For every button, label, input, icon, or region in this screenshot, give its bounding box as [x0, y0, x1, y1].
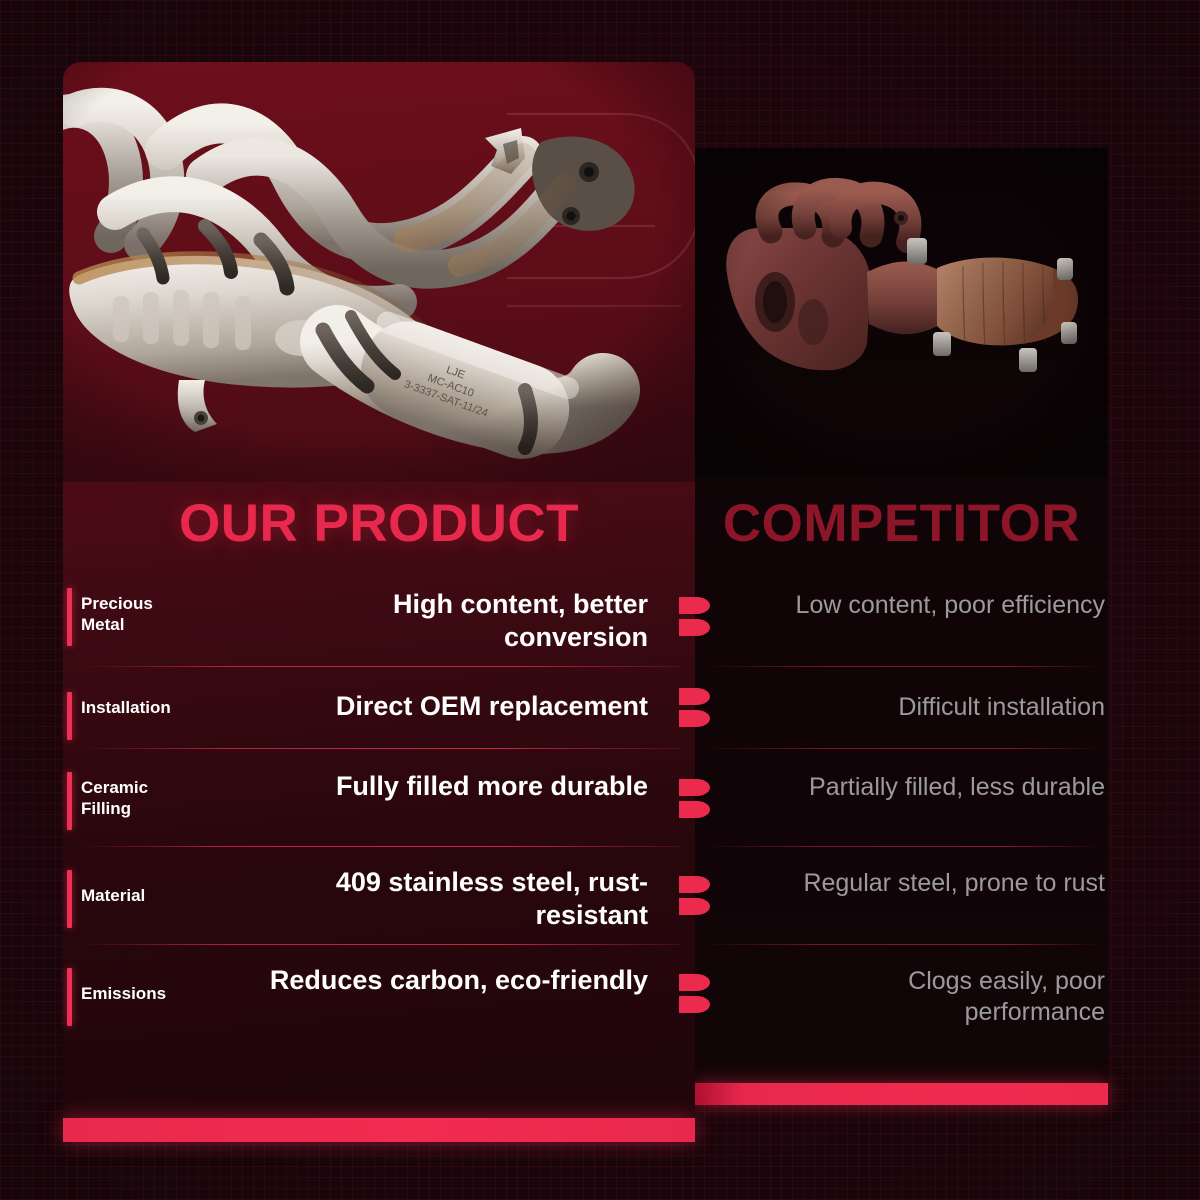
marker-top-half	[679, 876, 710, 893]
comparison-row: Emissions Reduces carbon, eco-friendly C…	[0, 950, 1200, 1043]
competitor-value: Low content, poor efficiency	[775, 590, 1105, 621]
row-divider-marker	[679, 779, 710, 818]
product-value: Fully filled more durable	[258, 770, 648, 803]
row-label: Installation	[81, 698, 201, 719]
marker-bottom-half	[679, 898, 710, 915]
row-divider	[700, 944, 1104, 945]
row-label: Precious Metal	[81, 594, 201, 635]
row-tick-marker	[67, 870, 72, 928]
product-value: Reduces carbon, eco-friendly	[258, 964, 648, 997]
row-label-line: Metal	[81, 615, 201, 636]
row-divider	[78, 944, 680, 945]
marker-bottom-half	[679, 996, 710, 1013]
infographic-canvas: LJE MC-AC10 3-3337-SAT-11/24	[0, 0, 1200, 1200]
comparison-row: Precious Metal High content, better conv…	[0, 570, 1200, 663]
row-divider-marker	[679, 974, 710, 1013]
row-label: Ceramic Filling	[81, 778, 201, 819]
row-label-line: Precious	[81, 594, 201, 615]
marker-bottom-half	[679, 619, 710, 636]
row-divider-marker	[679, 688, 710, 727]
product-value: 409 stainless steel, rust-resistant	[258, 866, 648, 932]
row-tick-marker	[67, 588, 72, 646]
row-divider	[700, 666, 1104, 667]
row-tick-marker	[67, 692, 72, 740]
row-label-line: Ceramic	[81, 778, 201, 799]
competitor-value: Regular steel, prone to rust	[775, 868, 1105, 899]
row-divider	[700, 846, 1104, 847]
row-tick-marker	[67, 968, 72, 1026]
marker-top-half	[679, 597, 710, 614]
product-value: High content, better conversion	[258, 588, 648, 654]
competitor-value: Difficult installation	[775, 692, 1105, 723]
row-divider	[78, 846, 680, 847]
comparison-rows: Precious Metal High content, better conv…	[0, 0, 1200, 1200]
row-label-line: Filling	[81, 799, 201, 820]
product-value: Direct OEM replacement	[258, 690, 648, 723]
marker-top-half	[679, 974, 710, 991]
competitor-value: Clogs easily, poor performance	[775, 966, 1105, 1029]
row-tick-marker	[67, 772, 72, 830]
row-label-line: Emissions	[81, 984, 201, 1005]
comparison-row: Ceramic Filling Fully filled more durabl…	[0, 754, 1200, 847]
row-label: Material	[81, 886, 201, 907]
marker-bottom-half	[679, 801, 710, 818]
comparison-row: Installation Direct OEM replacement Diff…	[0, 672, 1200, 750]
marker-top-half	[679, 688, 710, 705]
row-divider-marker	[679, 597, 710, 636]
comparison-row: Material 409 stainless steel, rust-resis…	[0, 852, 1200, 945]
row-divider	[700, 748, 1104, 749]
row-label-line: Installation	[81, 698, 201, 719]
row-label: Emissions	[81, 984, 201, 1005]
row-divider	[78, 748, 680, 749]
marker-bottom-half	[679, 710, 710, 727]
row-divider	[78, 666, 680, 667]
row-label-line: Material	[81, 886, 201, 907]
marker-top-half	[679, 779, 710, 796]
competitor-value: Partially filled, less durable	[775, 772, 1105, 803]
row-divider-marker	[679, 876, 710, 915]
